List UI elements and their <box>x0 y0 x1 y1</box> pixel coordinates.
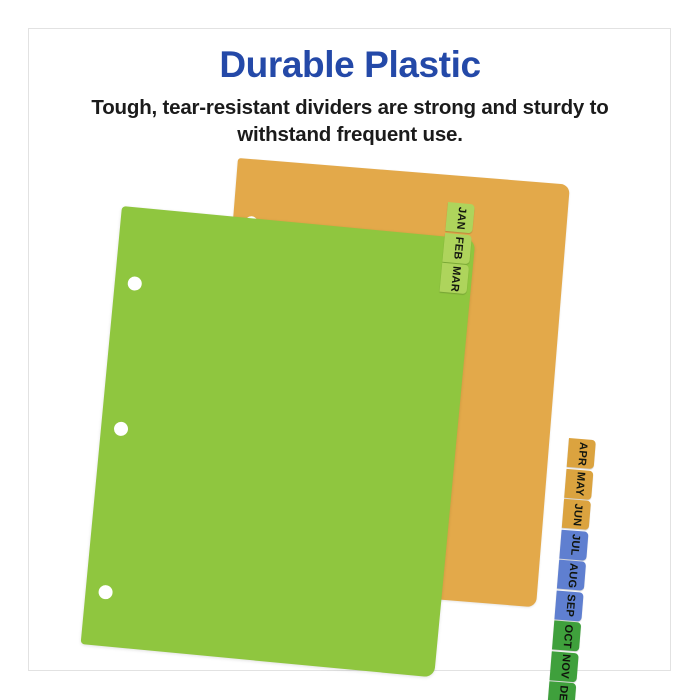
index-tab-dec: DEC <box>547 681 576 700</box>
page-subtitle: Tough, tear-resistant dividers are stron… <box>60 94 640 148</box>
index-tab-nov: NOV <box>550 651 579 682</box>
index-tab-label: OCT <box>560 623 573 648</box>
punch-hole-icon <box>98 585 113 600</box>
index-tab-jun: JUN <box>562 499 591 530</box>
index-tab-feb: FEB <box>442 232 472 263</box>
index-tab-label: JUL <box>568 533 581 555</box>
index-tab-label: FEB <box>451 236 464 260</box>
index-tab-label: NOV <box>558 654 571 680</box>
index-tab-apr: APR <box>567 438 596 469</box>
product-feature-image: Durable Plastic Tough, tear-resistant di… <box>0 0 700 700</box>
index-tab-label: SEP <box>563 594 576 618</box>
index-tab-sep: SEP <box>554 590 583 621</box>
index-tab-label: MAR <box>448 265 461 292</box>
index-tab-oct: OCT <box>552 620 581 651</box>
front-divider-sheet <box>81 206 476 677</box>
index-tab-jan: JAN <box>445 202 475 233</box>
punch-hole-icon <box>113 421 128 436</box>
index-tab-label: APR <box>575 441 588 466</box>
index-tab-mar: MAR <box>440 263 470 294</box>
index-tab-label: AUG <box>565 562 578 588</box>
page-title: Durable Plastic <box>0 44 700 85</box>
index-tab-label: JUN <box>570 502 583 526</box>
back-divider-tab-column: APRMAYJUNJULAUGSEPOCTNOVDEC <box>546 438 595 700</box>
product-photo: APRMAYJUNJULAUGSEPOCTNOVDEC JANFEBMAR <box>0 150 700 690</box>
index-tab-label: DEC <box>555 684 568 700</box>
index-tab-label: JAN <box>454 206 467 230</box>
index-tab-aug: AUG <box>557 560 586 591</box>
index-tab-label: MAY <box>572 471 585 496</box>
index-tab-may: MAY <box>564 468 593 499</box>
index-tab-jul: JUL <box>559 529 588 560</box>
text-block: Durable Plastic Tough, tear-resistant di… <box>0 44 700 149</box>
punch-hole-icon <box>127 276 142 291</box>
